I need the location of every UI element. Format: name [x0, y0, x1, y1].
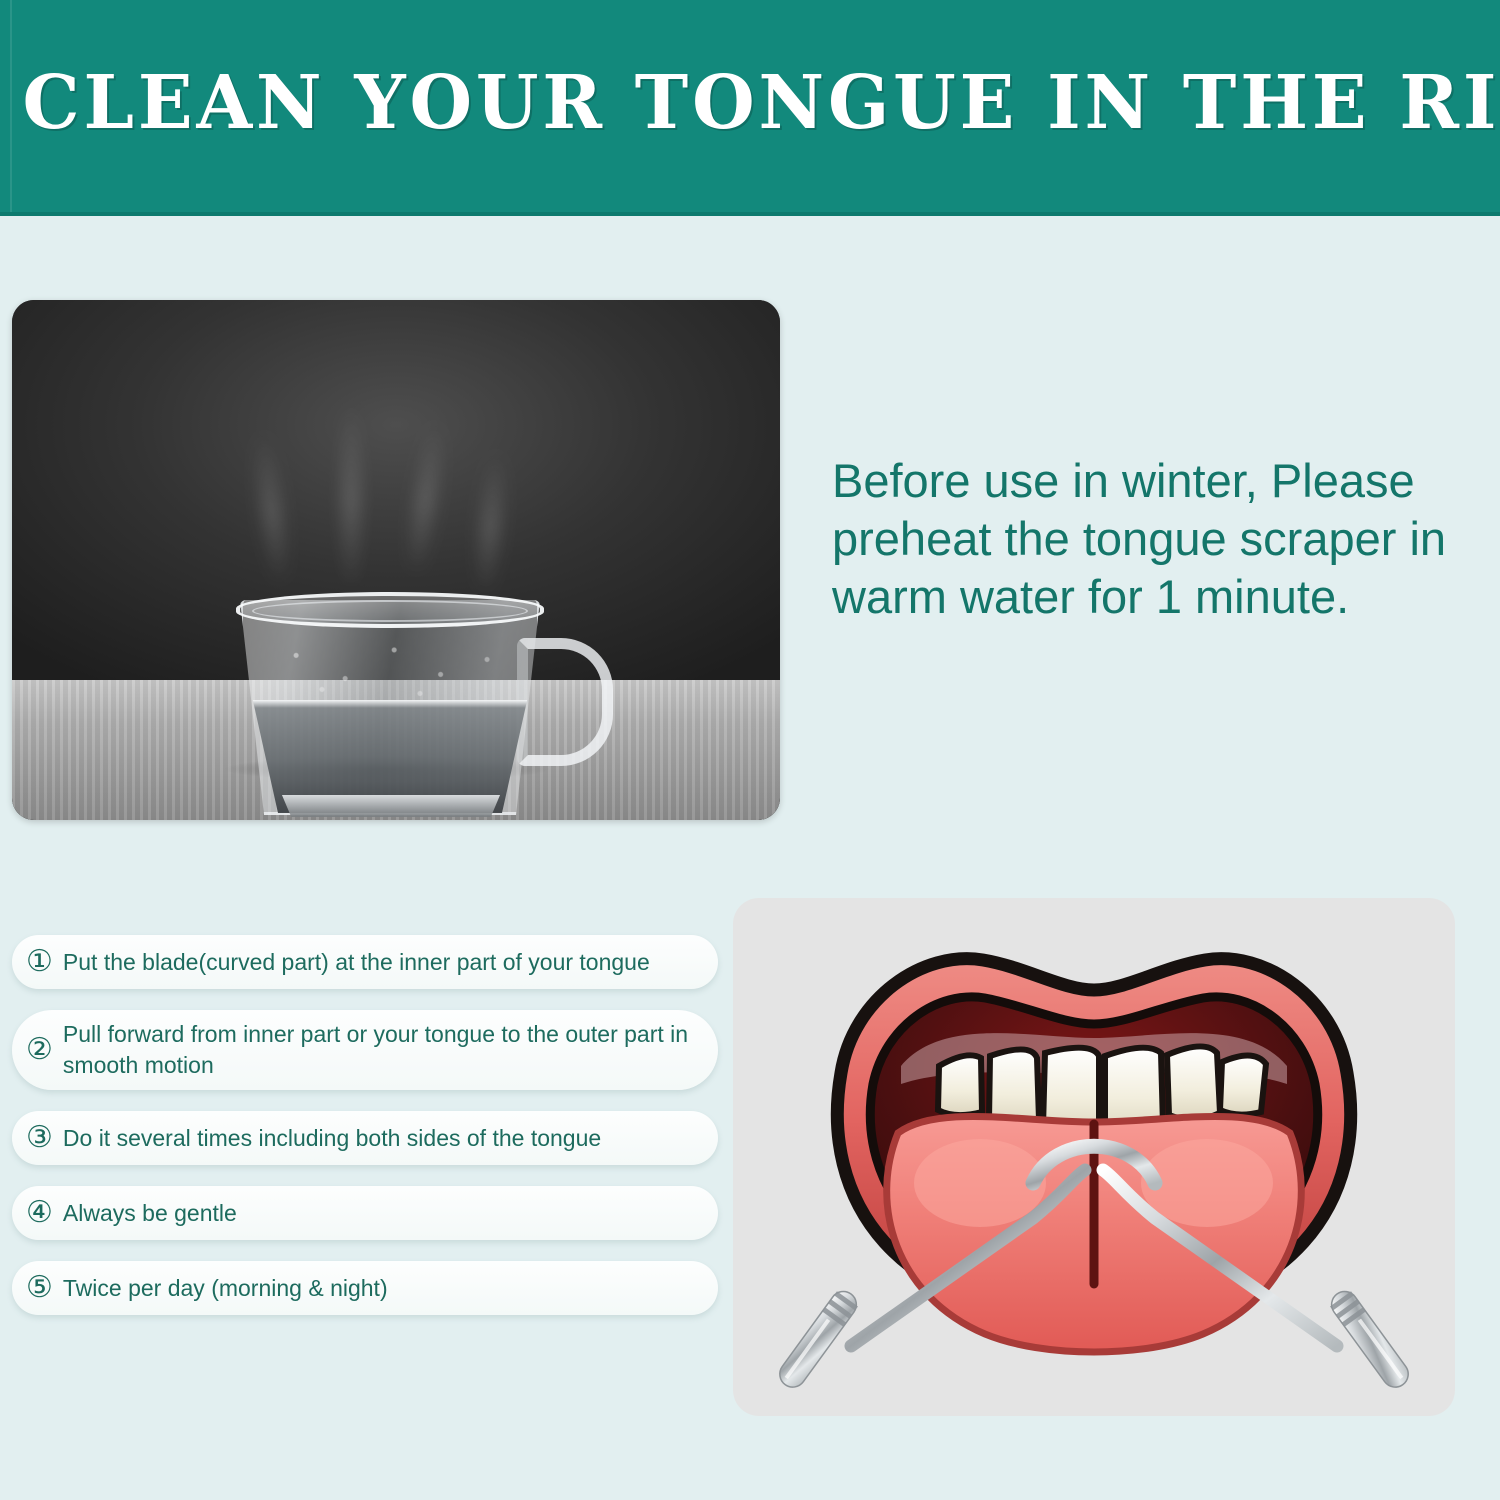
scraper-left-arm: [851, 1170, 1085, 1346]
warm-water-cup-photo: [12, 300, 780, 820]
scraper-right-arm: [1103, 1170, 1337, 1346]
step-number-1: ①: [26, 947, 53, 977]
page-title: CLEAN YOUR TONGUE IN THE RIGHT WAY!: [23, 62, 1478, 144]
mouth-illustration: [733, 898, 1455, 1416]
scraper-blade: [1033, 1146, 1155, 1183]
step-number-2: ②: [26, 1035, 53, 1065]
list-item: ④ Always be gentle: [12, 1186, 718, 1240]
list-item: ② Pull forward from inner part or your t…: [12, 1010, 718, 1090]
step-text-2: Pull forward from inner part or your ton…: [63, 1019, 702, 1081]
steps-list: ① Put the blade(curved part) at the inne…: [12, 935, 718, 1315]
list-item: ③ Do it several times including both sid…: [12, 1111, 718, 1165]
usage-illustration-panel: [733, 898, 1455, 1416]
step-number-5: ⑤: [26, 1273, 53, 1303]
scraper-right-handle: [1326, 1286, 1413, 1392]
step-text-4: Always be gentle: [63, 1198, 702, 1229]
step-number-4: ④: [26, 1198, 53, 1228]
scraper-left-handle: [775, 1286, 862, 1392]
header-banner: CLEAN YOUR TONGUE IN THE RIGHT WAY!: [0, 0, 1500, 216]
steam-wisp-icon: [342, 400, 360, 585]
step-number-3: ③: [26, 1123, 53, 1153]
cup-rim-inner: [252, 600, 528, 622]
step-text-3: Do it several times including both sides…: [63, 1123, 702, 1154]
tongue-scraper-graphic: [733, 898, 1455, 1416]
list-item: ⑤ Twice per day (morning & night): [12, 1261, 718, 1315]
step-text-1: Put the blade(curved part) at the inner …: [63, 947, 702, 978]
cup-condensation: [260, 635, 518, 703]
preheat-instruction-text: Before use in winter, Please preheat the…: [832, 452, 1457, 626]
list-item: ① Put the blade(curved part) at the inne…: [12, 935, 718, 989]
step-text-5: Twice per day (morning & night): [63, 1273, 702, 1304]
cup-base: [275, 795, 507, 817]
